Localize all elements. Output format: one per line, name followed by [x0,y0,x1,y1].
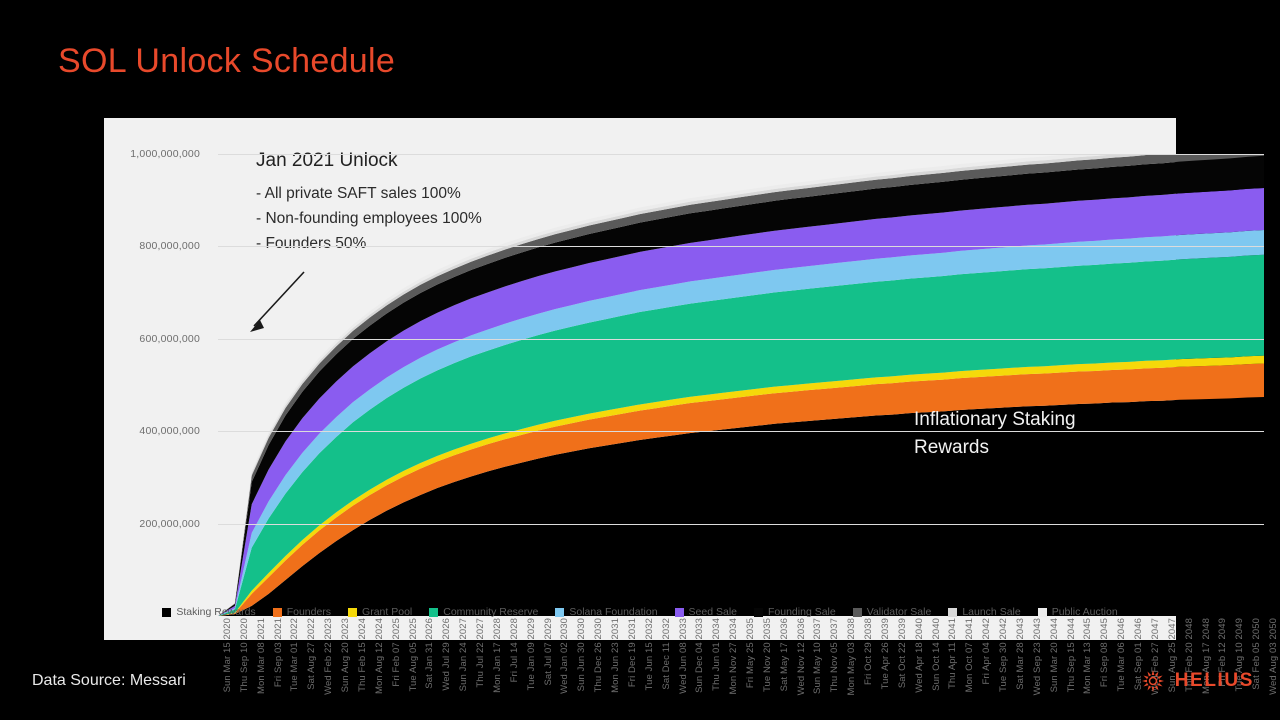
x-axis-tick-label: Mon Jun 23 2031 [610,618,621,693]
legend-label: Grant Pool [362,606,412,618]
legend-item[interactable]: Staking Rewards [162,606,255,618]
annotation-line: - Non-founding employees 100% [256,206,482,231]
legend-label: Founders [287,606,331,618]
x-axis-tick-label: Thu Dec 26 2030 [593,618,604,692]
y-axis-tick-label: 200,000,000 [139,518,200,530]
x-axis-tick-label: Sat Jan 31 2026 [424,618,435,689]
inflationary-staking-label: Inflationary Staking Rewards [914,406,1076,462]
gridline [218,524,1264,525]
annotation-line: - All private SAFT sales 100% [256,181,482,206]
data-source-text: Data Source: Messari [32,672,186,690]
legend-swatch-icon [675,608,684,617]
x-axis-tick-label: Sat May 17 2036 [779,618,790,691]
gridline [218,339,1264,340]
legend-label: Founding Sale [768,606,836,618]
x-axis-tick-label: Sat Dec 11 2032 [661,618,672,690]
x-axis-tick-label: Fri Sep 08 2045 [1099,618,1110,687]
legend-swatch-icon [948,608,957,617]
x-axis-tick-label: Wed Jan 02 2030 [559,618,570,694]
y-axis-labels: 1,000,000,000800,000,000600,000,000400,0… [104,154,214,616]
x-axis-tick-label: Fri Apr 04 2042 [981,618,992,684]
helius-sunburst-icon [1140,668,1166,694]
x-axis-tick-label: Mon Mar 08 2021 [256,618,267,694]
inflationary-label-line1: Inflationary Staking [914,406,1076,434]
sunburst-ray [1151,687,1154,692]
sunburst-ray [1143,683,1148,687]
x-axis-tick-label: Fri Sep 03 2021 [273,618,284,687]
y-axis-tick-label: 800,000,000 [139,240,200,252]
helius-brand: HELIUS [1140,668,1254,694]
legend-swatch-icon [429,608,438,617]
x-axis-tick-label: Mon Nov 27 2034 [728,618,739,695]
x-axis-tick-label: Sun Jun 30 2030 [576,618,587,691]
x-axis-tick-label: Wed Feb 22 2023 [323,618,334,695]
x-axis-tick-label: Wed Sep 23 2043 [1032,618,1043,695]
legend-item[interactable]: Solana Foundation [555,606,657,618]
legend-item[interactable]: Launch Sale [948,606,1020,618]
x-axis-tick-label: Sat Aug 27 2022 [306,618,317,690]
x-axis-tick-label: Mon Jan 17 2028 [492,618,503,693]
legend-item[interactable]: Validator Sale [853,606,932,618]
x-axis-tick-label: Sun Aug 20 2023 [340,618,351,692]
x-axis-tick-label: Wed Nov 12 2036 [796,618,807,695]
x-axis-tick-label: Thu Feb 15 2024 [357,618,368,692]
annotation-line: - Founders 50% [256,231,482,256]
x-axis-tick-label: Tue Apr 26 2039 [880,618,891,689]
sunburst-ray [1155,686,1159,691]
chart-panel: 1,000,000,000800,000,000600,000,000400,0… [104,118,1176,640]
x-axis-tick-label: Thu Apr 11 2041 [947,618,958,689]
x-axis-tick-label: Fri Jul 14 2028 [509,618,520,682]
legend-swatch-icon [348,608,357,617]
x-axis-tick-label: Tue Aug 05 2025 [408,618,419,692]
x-axis-tick-label: Thu Nov 05 2037 [829,618,840,692]
x-axis-tick-label: Fri Oct 29 2038 [863,618,874,685]
sunburst-ray [1142,680,1147,683]
y-axis-tick-label: 600,000,000 [139,333,200,345]
x-axis-tick-label: Wed Jun 08 2033 [678,618,689,694]
legend-label: Launch Sale [962,606,1020,618]
annotation-arrow-icon [242,268,312,338]
legend-item[interactable]: Community Reserve [429,606,538,618]
legend-swatch-icon [1038,608,1047,617]
legend-swatch-icon [754,608,763,617]
sunburst-ray [1147,686,1151,691]
legend-label: Community Reserve [443,606,538,618]
sunburst-core [1150,678,1155,683]
x-axis-tick-label: Thu Sep 15 2044 [1066,618,1077,692]
x-axis-tick-label: Fri Dec 19 2031 [627,618,638,687]
unlock-annotation: Jan 2021 Unlock - All private SAFT sales… [256,150,482,256]
sunburst-ray [1147,671,1151,676]
gridline [218,154,1264,155]
x-axis-tick-label: Fri May 25 2035 [745,618,756,688]
sunburst-ray [1143,675,1148,679]
x-axis-tick-label: Sun Mar 20 2044 [1049,618,1060,692]
brand-name: HELIUS [1175,670,1254,692]
sunburst-ray [1155,671,1159,676]
x-axis-tick-label: Tue Sep 30 2042 [998,618,1009,692]
x-axis-tick-label: Tue Mar 06 2046 [1116,618,1127,692]
legend-item[interactable]: Public Auction [1038,606,1118,618]
legend-item[interactable]: Founders [273,606,331,618]
gridline [218,431,1264,432]
x-axis-tick-label: Wed Apr 18 2040 [914,618,925,693]
legend-swatch-icon [555,608,564,617]
sunburst-ray [1159,680,1164,683]
legend-item[interactable]: Founding Sale [754,606,836,618]
inflationary-label-line2: Rewards [914,434,1076,462]
x-axis-tick-label: Thu Jun 01 2034 [711,618,722,691]
page-title: SOL Unlock Schedule [58,42,395,81]
x-axis-tick-label: Sun Mar 15 2020 [222,618,233,692]
x-axis-tick-label: Sun May 10 2037 [812,618,823,694]
chart-legend: Staking RewardsFoundersGrant PoolCommuni… [104,606,1176,618]
x-axis-labels: Sun Mar 15 2020Thu Sep 10 2020Mon Mar 08… [218,618,1264,720]
sunburst-ray [1157,675,1162,679]
sunburst-ray [1151,670,1154,675]
x-axis-tick-label: Thu Sep 10 2020 [239,618,250,692]
legend-label: Seed Sale [689,606,737,618]
sunburst-ray [1157,683,1162,687]
x-axis-tick-label: Tue Nov 20 2035 [762,618,773,692]
x-axis-tick-label: Sun Oct 14 2040 [931,618,942,691]
x-axis-tick-label: Mon Oct 07 2041 [964,618,975,692]
legend-swatch-icon [162,608,171,617]
x-axis-tick-label: Tue Mar 01 2022 [289,618,300,692]
legend-label: Public Auction [1052,606,1118,618]
x-axis-tick-label: Mon May 03 2038 [846,618,857,696]
x-axis-tick-label: Fri Feb 07 2025 [391,618,402,687]
x-axis-tick-label: Sat Mar 28 2043 [1015,618,1026,690]
x-axis-tick-label: Thu Jul 22 2027 [475,618,486,688]
x-axis-tick-label: Sat Oct 22 2039 [897,618,908,688]
slide-root: SOL Unlock Schedule 1,000,000,000800,000… [0,0,1280,720]
x-axis-tick-label: Wed Jul 29 2026 [441,618,452,691]
legend-swatch-icon [853,608,862,617]
x-axis-tick-label: Wed Aug 03 2050 [1268,618,1279,695]
legend-swatch-icon [273,608,282,617]
legend-label: Staking Rewards [176,606,255,618]
x-axis-tick-label: Tue Jan 09 2029 [526,618,537,690]
y-axis-tick-label: 400,000,000 [139,425,200,437]
x-axis-tick-label: Mon Mar 13 2045 [1082,618,1093,694]
legend-label: Validator Sale [867,606,932,618]
x-axis-tick-label: Sat Jul 07 2029 [543,618,554,686]
x-axis-tick-label: Mon Aug 12 2024 [374,618,385,694]
legend-label: Solana Foundation [569,606,657,618]
x-axis-tick-label: Tue Jun 15 2032 [644,618,655,690]
gridline [218,246,1264,247]
x-axis-tick-label: Sun Dec 04 2033 [694,618,705,693]
legend-item[interactable]: Grant Pool [348,606,412,618]
y-axis-tick-label: 1,000,000,000 [130,148,200,160]
legend-item[interactable]: Seed Sale [675,606,737,618]
x-axis-tick-label: Sun Jan 24 2027 [458,618,469,691]
